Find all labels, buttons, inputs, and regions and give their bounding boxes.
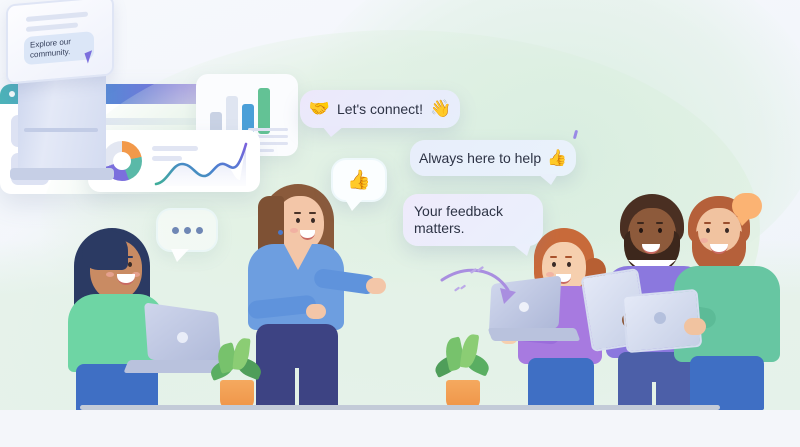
eye	[311, 218, 315, 223]
thumbs-up-icon: 👍	[347, 168, 371, 192]
eye	[725, 228, 729, 233]
eye	[552, 262, 556, 267]
kiosk-screen-line	[26, 12, 88, 22]
typing-dot	[196, 227, 203, 234]
kiosk-screen-line	[26, 22, 78, 32]
earring-icon	[278, 230, 283, 235]
eyebrow	[550, 256, 557, 258]
eyebrow	[656, 222, 663, 224]
thumbs-up-bubble: 👍	[331, 158, 387, 202]
hand-resting	[306, 304, 326, 319]
handshake-icon: 🤝	[309, 99, 330, 119]
your-feedback-matters-bubble: Your feedback matters.	[403, 194, 543, 246]
feedback-text-line2: matters.	[414, 220, 465, 238]
eye	[128, 262, 132, 267]
eyebrow	[704, 222, 711, 224]
wave-icon: 👋	[430, 99, 451, 119]
thumbs-up-icon: 👍	[547, 148, 567, 168]
legs	[528, 358, 594, 412]
kiosk-screen[interactable]: Explore our community.	[6, 0, 114, 85]
legs	[690, 356, 764, 410]
typing-dot	[172, 227, 179, 234]
window-dot-icon[interactable]	[9, 91, 15, 97]
eyebrow	[309, 212, 316, 214]
man-tablet-ginger	[672, 196, 790, 410]
typing-dot	[184, 227, 191, 234]
cheek	[106, 272, 114, 277]
always-here-to-help-bubble: Always here to help 👍	[410, 140, 576, 176]
floor-foreground	[0, 410, 800, 447]
eye	[706, 228, 710, 233]
laptop-keyboard	[488, 328, 581, 341]
eye	[567, 262, 571, 267]
eye	[296, 218, 300, 223]
illustration-scene: Explore our community.	[0, 0, 800, 447]
kiosk-slot	[24, 128, 98, 132]
eyebrow	[294, 212, 301, 214]
eye	[639, 228, 643, 233]
floor-line	[80, 405, 720, 410]
hand-pointing	[366, 278, 386, 294]
eyebrow	[565, 256, 572, 258]
lets-connect-text: Let's connect!	[337, 101, 423, 117]
tablet-camera-icon	[654, 312, 666, 324]
typing-indicator-bubble	[156, 208, 218, 252]
hand	[684, 318, 706, 335]
kiosk-base	[10, 168, 114, 180]
explore-community-button[interactable]: Explore our community.	[24, 31, 94, 65]
lets-connect-bubble: 🤝 Let's connect! 👋	[300, 90, 460, 128]
laptop-logo-icon	[177, 332, 188, 343]
plant-right	[432, 334, 494, 410]
bar-2	[226, 96, 238, 134]
cheek	[700, 238, 708, 243]
curved-arrow-icon	[440, 262, 524, 310]
feedback-text-line1: Your feedback	[414, 203, 503, 221]
plant-left	[206, 336, 268, 410]
eye	[658, 228, 662, 233]
eyebrow	[723, 222, 730, 224]
leg-split	[295, 368, 299, 410]
donut-dashboard-card	[88, 130, 260, 192]
cheek	[290, 228, 298, 233]
orange-notification-bubble	[732, 193, 762, 219]
hair-front	[82, 230, 128, 270]
eyebrow	[637, 222, 644, 224]
always-here-to-help-text: Always here to help	[419, 150, 541, 166]
